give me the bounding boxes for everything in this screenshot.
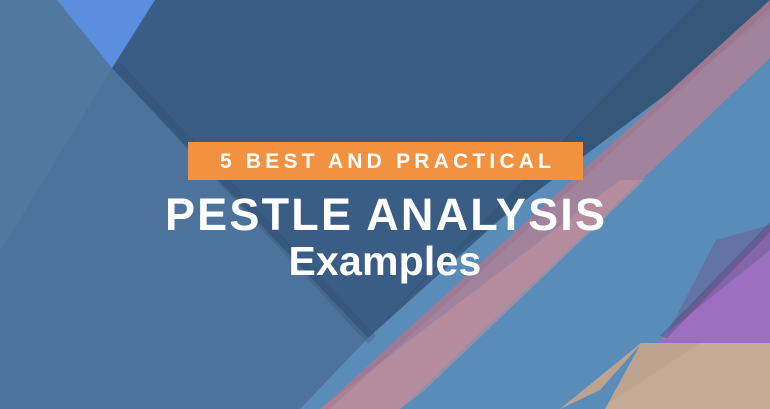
banner-text-stack: 5 BEST AND PRACTICAL PESTLE ANALYSIS Exa… (0, 0, 770, 409)
banner-headline: PESTLE ANALYSIS (0, 192, 770, 237)
banner-subheadline: Examples (0, 241, 770, 282)
eyebrow-badge-label: 5 BEST AND PRACTICAL (216, 151, 555, 172)
eyebrow-badge: 5 BEST AND PRACTICAL (188, 142, 583, 180)
pestle-analysis-banner: 5 BEST AND PRACTICAL PESTLE ANALYSIS Exa… (0, 0, 770, 409)
